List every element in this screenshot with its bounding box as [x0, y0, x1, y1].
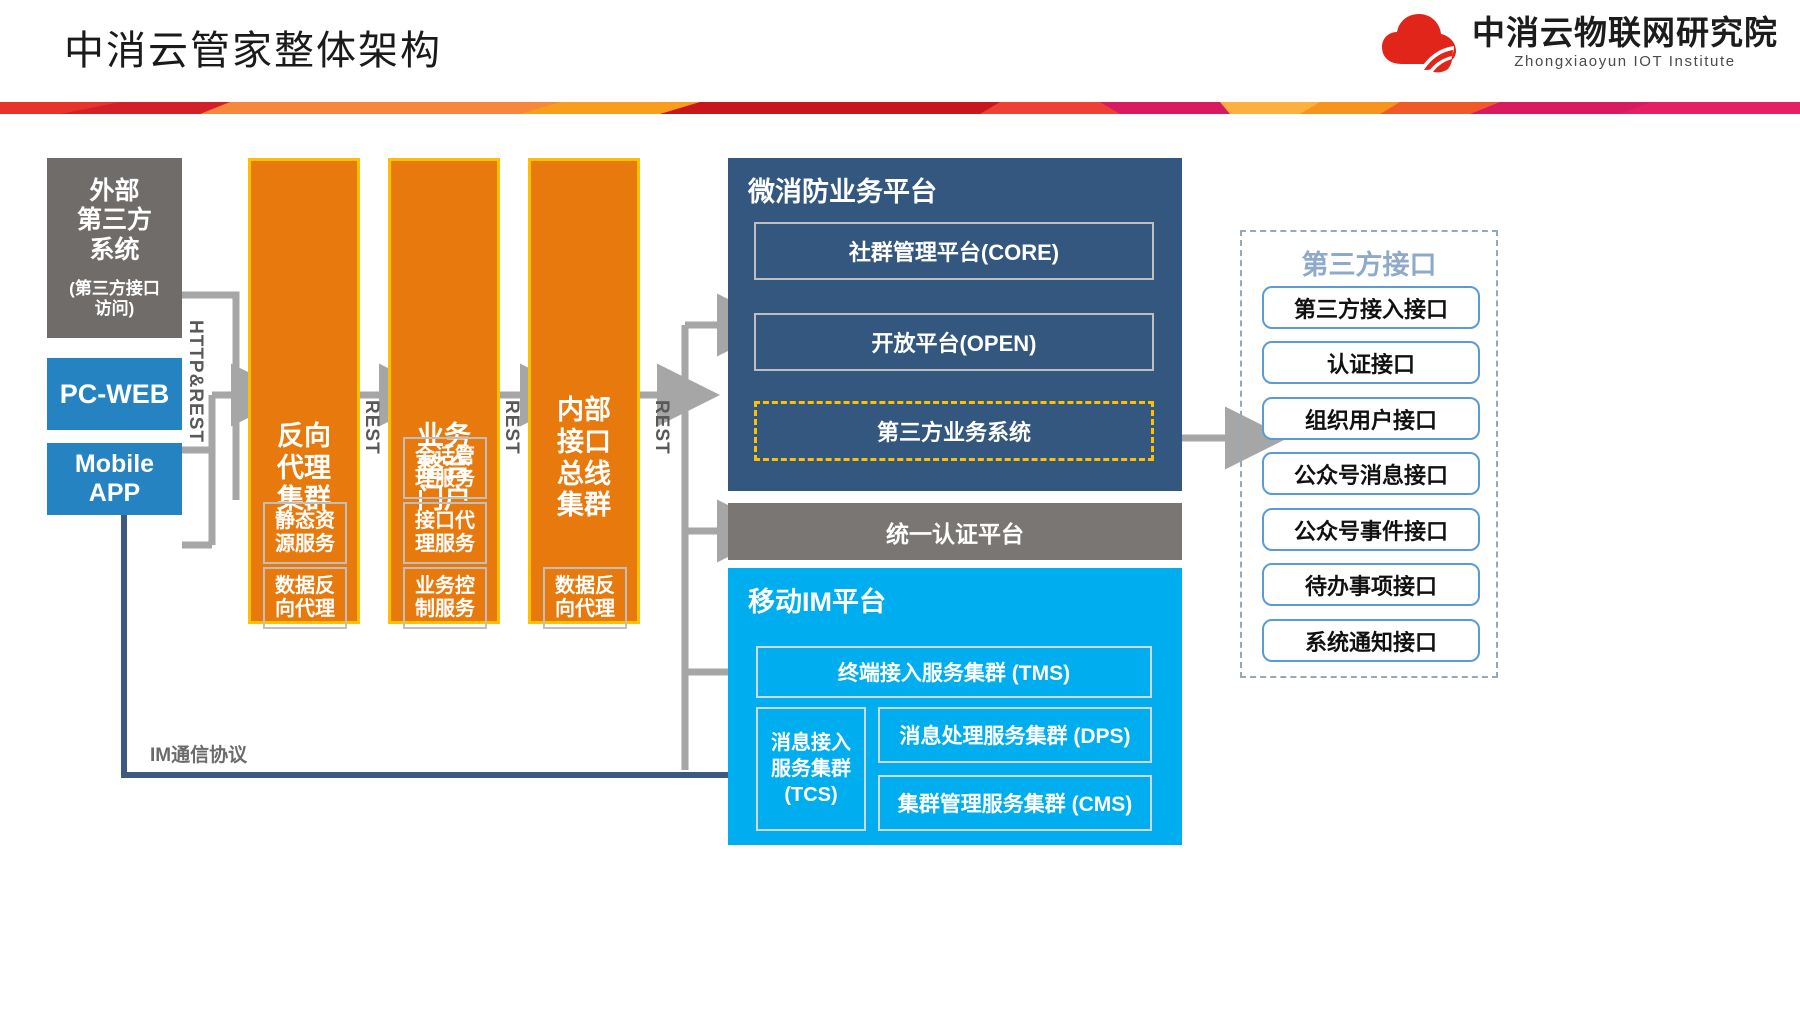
internal-interface-bus-cluster[interactable]: 内部 接口 总线 集群	[528, 158, 640, 624]
im-dps-cluster[interactable]: 消息处理服务集群 (DPS)	[878, 707, 1152, 763]
im-tcs-cluster[interactable]: 消息接入 服务集群 (TCS)	[756, 707, 866, 831]
logo-text-cn: 中消云物联网研究院	[1472, 16, 1778, 51]
iface-third-party-access[interactable]: 第三方接入接口	[1262, 286, 1480, 329]
bus-title-3: 总线	[557, 459, 611, 491]
cloud-icon	[1380, 12, 1458, 74]
sub-interface-proxy-line2: 理服务	[415, 533, 475, 556]
logo-text-en: Zhongxiaoyun IOT Institute	[1472, 53, 1778, 70]
iface-official-account-event[interactable]: 公众号事件接口	[1262, 508, 1480, 551]
im-tcs-line3: (TCS)	[771, 782, 851, 808]
iface-system-notification-label: 系统通知接口	[1305, 625, 1437, 657]
brand-logo: 中消云物联网研究院 Zhongxiaoyun IOT Institute	[1380, 12, 1778, 74]
third-party-group-title: 第三方接口	[1240, 243, 1498, 282]
external-system-note2: 访问)	[69, 299, 160, 319]
bus-title-4: 集群	[557, 490, 611, 522]
unified-auth-platform-label: 统一认证平台	[886, 515, 1024, 549]
business-platform-title: 微消防业务平台	[748, 170, 937, 209]
sub-static-resource-line1: 静态资	[275, 510, 335, 533]
sub-data-reverse-proxy-2[interactable]: 数据反 向代理	[543, 567, 627, 629]
sub-business-control-line2: 制服务	[415, 598, 475, 621]
iface-official-account-event-label: 公众号事件接口	[1294, 514, 1448, 546]
reverse-proxy-title-1: 反向	[277, 421, 331, 453]
im-tcs-line1: 消息接入	[771, 730, 851, 756]
slide-canvas: 中消云管家整体架构 中消云物联网研究院 Zhongxiaoyun IOT Ins…	[0, 0, 1800, 1013]
iface-todo-items[interactable]: 待办事项接口	[1262, 563, 1480, 606]
platform-item-third-party-business[interactable]: 第三方业务系统	[754, 401, 1154, 461]
iface-org-user-label: 组织用户接口	[1305, 403, 1437, 435]
page-title: 中消云管家整体架构	[64, 18, 442, 76]
client-mobile-app-line1: Mobile	[75, 450, 154, 479]
external-system-line2: 第三方	[77, 206, 152, 236]
external-system-line3: 系统	[77, 236, 152, 266]
sub-business-control-line1: 业务控	[415, 575, 475, 598]
sub-data-reverse-proxy-1-line1: 数据反	[275, 575, 335, 598]
im-cms-cluster[interactable]: 集群管理服务集群 (CMS)	[878, 775, 1152, 831]
bus-title-2: 接口	[557, 427, 611, 459]
label-rest-3: REST	[650, 400, 672, 455]
sub-data-reverse-proxy-2-line1: 数据反	[555, 575, 615, 598]
reverse-proxy-title-2: 代理	[277, 453, 331, 485]
iface-official-account-message-label: 公众号消息接口	[1294, 458, 1448, 490]
sub-business-control-service[interactable]: 业务控 制服务	[403, 567, 487, 629]
im-dps-label: 消息处理服务集群 (DPS)	[900, 720, 1131, 750]
platform-item-third-party-label: 第三方业务系统	[877, 415, 1031, 447]
sub-interface-proxy-line1: 接口代	[415, 510, 475, 533]
client-mobile-app-line2: APP	[89, 479, 140, 508]
unified-auth-platform[interactable]: 统一认证平台	[728, 503, 1182, 560]
im-cms-label: 集群管理服务集群 (CMS)	[898, 788, 1133, 818]
platform-item-core-label: 社群管理平台(CORE)	[849, 235, 1059, 267]
external-third-party-system: 外部 第三方 系统 (第三方接口 访问)	[47, 158, 182, 338]
im-tcs-line2: 服务集群	[771, 756, 851, 782]
iface-third-party-access-label: 第三方接入接口	[1294, 292, 1448, 324]
sub-static-resource-service[interactable]: 静态资 源服务	[263, 502, 347, 564]
im-tms-label: 终端接入服务集群 (TMS)	[838, 657, 1070, 687]
im-tms-cluster[interactable]: 终端接入服务集群 (TMS)	[756, 646, 1152, 698]
sub-session-management-service[interactable]: 会话管 理服务	[403, 437, 487, 499]
sub-interface-proxy-service[interactable]: 接口代 理服务	[403, 502, 487, 564]
platform-item-open-label: 开放平台(OPEN)	[871, 326, 1036, 358]
label-im-protocol: IM通信协议	[150, 740, 247, 767]
iface-authentication[interactable]: 认证接口	[1262, 341, 1480, 384]
sub-session-line2: 理服务	[415, 468, 475, 491]
label-rest-1: REST	[360, 400, 382, 455]
client-pc-web[interactable]: PC-WEB	[47, 358, 182, 430]
iface-org-user[interactable]: 组织用户接口	[1262, 397, 1480, 440]
label-rest-2: REST	[500, 400, 522, 455]
iface-authentication-label: 认证接口	[1327, 347, 1415, 379]
sub-data-reverse-proxy-2-line2: 向代理	[555, 598, 615, 621]
external-system-note1: (第三方接口	[69, 279, 160, 299]
sub-data-reverse-proxy-1-line2: 向代理	[275, 598, 335, 621]
sub-session-line1: 会话管	[415, 445, 475, 468]
label-http-rest: HTTP&REST	[184, 320, 206, 443]
client-pc-web-label: PC-WEB	[60, 379, 170, 410]
decorative-banner	[0, 102, 1800, 114]
platform-item-core[interactable]: 社群管理平台(CORE)	[754, 222, 1154, 280]
sub-static-resource-line2: 源服务	[275, 533, 335, 556]
iface-todo-items-label: 待办事项接口	[1305, 569, 1437, 601]
iface-system-notification[interactable]: 系统通知接口	[1262, 619, 1480, 662]
client-mobile-app[interactable]: Mobile APP	[47, 443, 182, 515]
sub-data-reverse-proxy-1[interactable]: 数据反 向代理	[263, 567, 347, 629]
iface-official-account-message[interactable]: 公众号消息接口	[1262, 452, 1480, 495]
im-platform-title: 移动IM平台	[748, 580, 886, 619]
platform-item-open[interactable]: 开放平台(OPEN)	[754, 313, 1154, 371]
bus-title-1: 内部	[557, 395, 611, 427]
external-system-line1: 外部	[77, 177, 152, 207]
